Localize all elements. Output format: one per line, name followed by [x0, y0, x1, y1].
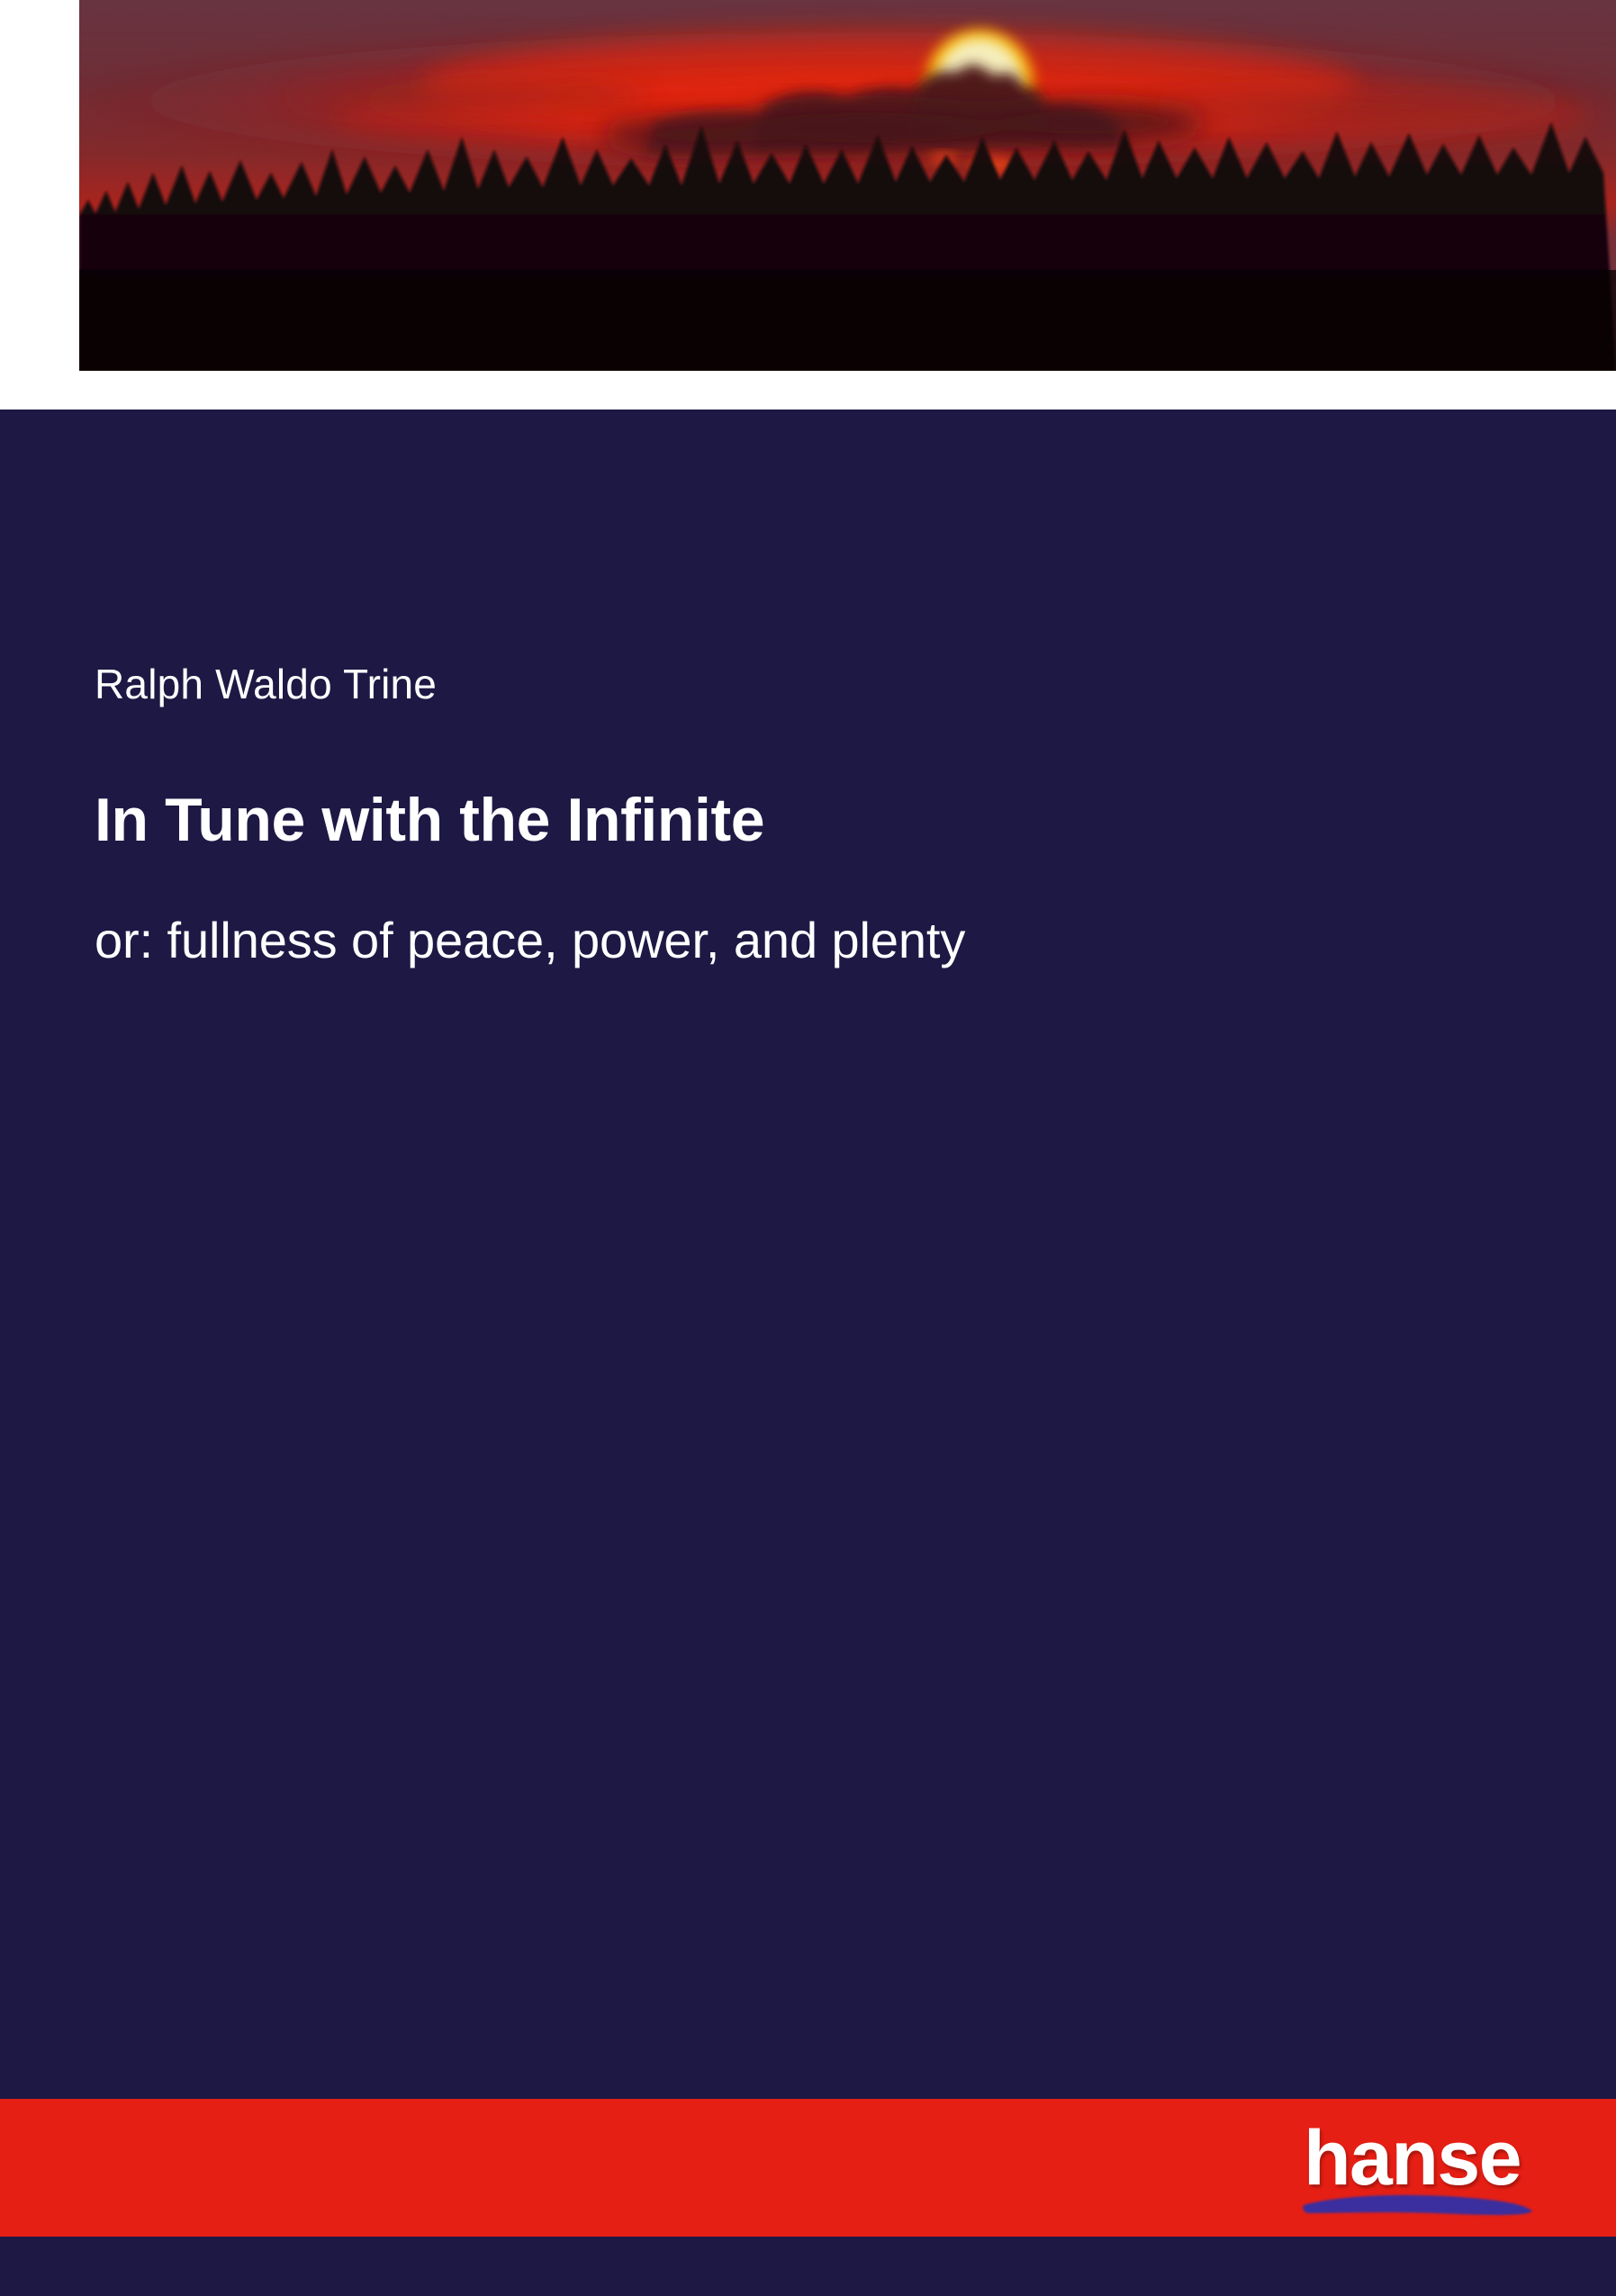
- cover-photo: [79, 0, 1616, 371]
- publisher-logo-text: hanse: [1304, 2120, 1521, 2197]
- book-subtitle: or: fullness of peace, power, and plenty: [95, 853, 1445, 969]
- cover-text-block: Ralph Waldo Trine In Tune with the Infin…: [95, 662, 1445, 970]
- footer-strip: [0, 2237, 1616, 2296]
- author-name: Ralph Waldo Trine: [95, 662, 1445, 707]
- book-cover: Ralph Waldo Trine In Tune with the Infin…: [0, 0, 1616, 2296]
- publisher-logo: hanse: [1296, 2120, 1548, 2237]
- sunset-forest-illustration: [79, 0, 1616, 371]
- logo-swoosh-icon: [1300, 2192, 1536, 2222]
- book-title: In Tune with the Infinite: [95, 707, 1445, 854]
